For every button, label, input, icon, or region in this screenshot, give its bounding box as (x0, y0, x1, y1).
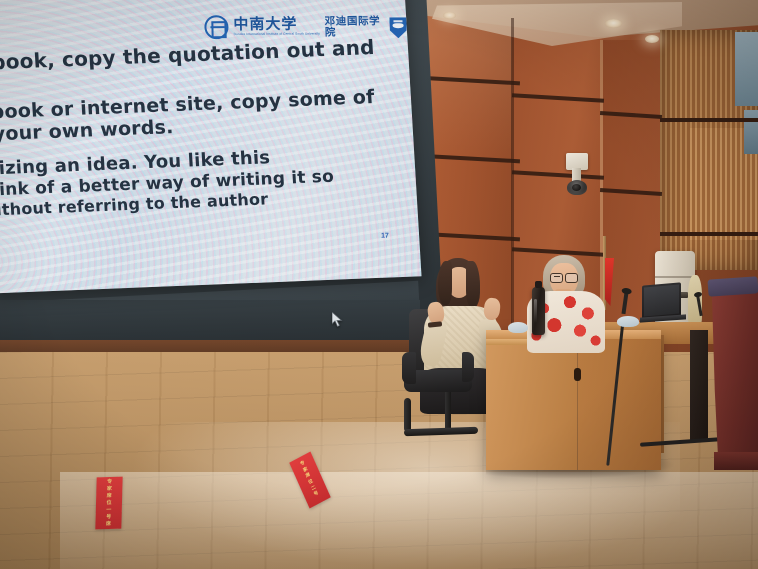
desk-front-panel (486, 338, 578, 470)
banner-char: 号 (314, 492, 320, 498)
ceiling-downlight (645, 35, 659, 43)
slide-institution-logo: 中南大学 Dundee International Institute of C… (204, 14, 407, 39)
air-conditioner-seam (655, 276, 695, 278)
presenter-hair-strand (466, 261, 480, 307)
banner-char: 一 (106, 507, 111, 512)
chair-armrest (462, 352, 474, 382)
projection-screen[interactable]: 中南大学 Dundee International Institute of C… (0, 0, 422, 293)
banner-char: 家 (107, 486, 112, 491)
banner-char: 位 (106, 500, 111, 505)
face-mask[interactable] (617, 316, 639, 327)
logo-english-name: Dundee International Institute of Centra… (234, 33, 320, 37)
lectern-top-surface (707, 276, 758, 296)
lectern-base (714, 452, 758, 470)
banner-char: 席 (107, 493, 112, 498)
banner-char: 号 (106, 514, 111, 519)
presenter-hair-strand (438, 261, 452, 305)
window-strip (744, 110, 758, 154)
csu-emblem-icon (204, 15, 229, 39)
logo-institute-name: 邓迪国际学院 (325, 16, 381, 37)
banner-char: 专 (107, 479, 112, 484)
ptz-dome-camera-icon (567, 180, 587, 195)
slide-text-body: n in a book, copy the quotation out and … (0, 35, 399, 222)
dundee-shield-crest-icon (389, 17, 407, 38)
floor-banner-left: 专 家 席 位 一 号 席 (95, 477, 122, 530)
water-bottle[interactable] (532, 287, 545, 335)
wall-seam (511, 18, 514, 363)
logo-chinese-name: 中南大学 (233, 17, 320, 32)
slide-number: 17 (381, 233, 389, 240)
side-lectern (712, 286, 758, 466)
ceiling-downlight (443, 12, 456, 19)
ceiling-downlight (605, 19, 622, 28)
wall-reveal-line (660, 118, 758, 122)
banner-char: 席 (106, 521, 111, 526)
eyeglasses-bridge (554, 276, 560, 277)
lecture-hall-scene: 中南大学 Dundee International Institute of C… (0, 0, 758, 569)
window-strip (735, 32, 758, 106)
lectern-support (690, 330, 708, 440)
chair-armrest (402, 352, 416, 384)
face-mask[interactable] (508, 322, 528, 333)
desk-handle[interactable] (574, 368, 581, 381)
wall-reveal-line (660, 232, 758, 236)
chair-skid (404, 398, 411, 432)
